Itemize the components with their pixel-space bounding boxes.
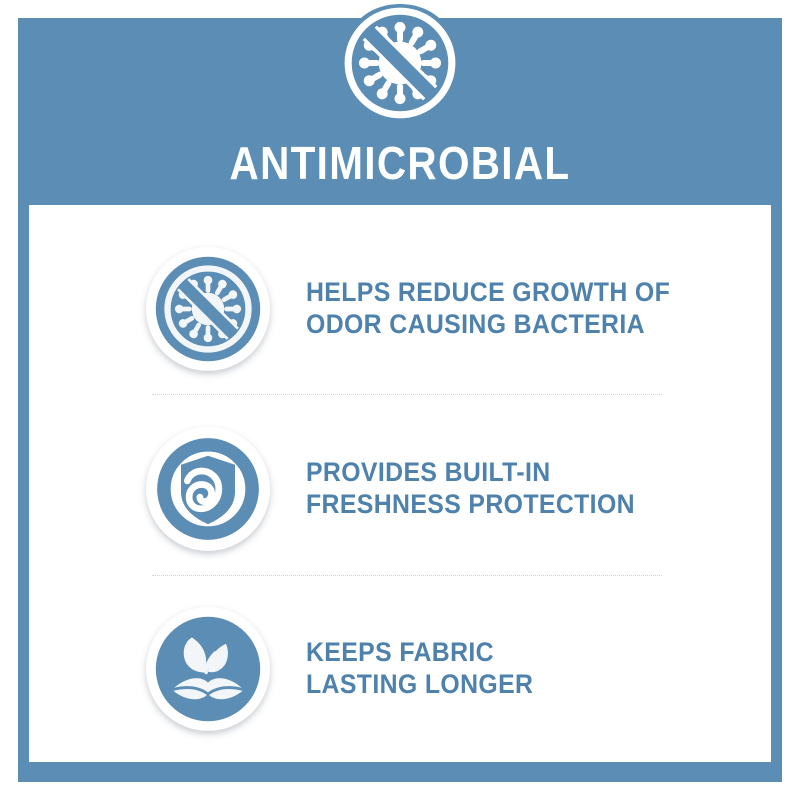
page-title: ANTIMICROBIAL xyxy=(64,140,736,186)
feature-text-line2: ODOR CAUSING BACTERIA xyxy=(306,309,670,341)
header-band: ANTIMICROBIAL xyxy=(18,18,782,205)
feature-row: PROVIDES BUILT-IN FRESHNESS PROTECTION xyxy=(29,427,771,551)
feature-text: HELPS REDUCE GROWTH OF ODOR CAUSING BACT… xyxy=(306,277,670,341)
virus-prohibited-badge-icon xyxy=(146,247,270,371)
feature-text-line2: LASTING LONGER xyxy=(306,669,533,701)
feature-row: HELPS REDUCE GROWTH OF ODOR CAUSING BACT… xyxy=(29,247,771,371)
feature-text-line2: FRESHNESS PROTECTION xyxy=(306,489,635,521)
feature-row: KEEPS FABRIC LASTING LONGER xyxy=(29,607,771,731)
divider xyxy=(152,575,662,577)
feature-text: PROVIDES BUILT-IN FRESHNESS PROTECTION xyxy=(306,457,635,521)
feature-text-line1: PROVIDES BUILT-IN xyxy=(306,457,635,489)
feature-text-line1: KEEPS FABRIC xyxy=(306,637,533,669)
virus-prohibited-icon xyxy=(339,2,461,124)
feature-text: KEEPS FABRIC LASTING LONGER xyxy=(306,637,533,701)
content-panel: HELPS REDUCE GROWTH OF ODOR CAUSING BACT… xyxy=(29,205,771,762)
antimicrobial-infographic: ANTIMICROBIAL xyxy=(0,0,800,800)
divider xyxy=(152,394,662,396)
feature-text-line1: HELPS REDUCE GROWTH OF xyxy=(306,277,670,309)
shield-swirl-badge-icon xyxy=(146,427,270,551)
leaf-sprout-badge-icon xyxy=(146,607,270,731)
